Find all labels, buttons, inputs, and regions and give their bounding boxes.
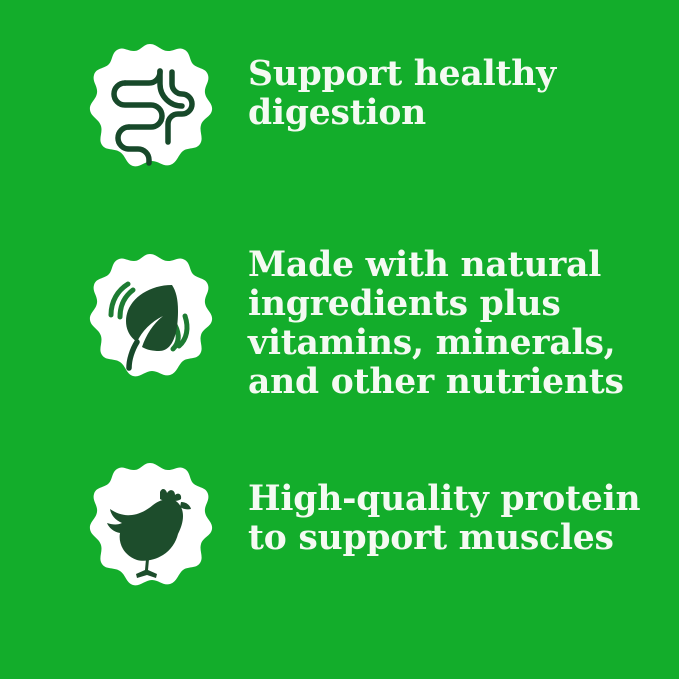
- badge-chicken: [84, 462, 216, 598]
- feature-row: High-quality protein to support muscles: [0, 462, 679, 598]
- badge-intestine: [84, 43, 216, 183]
- feature-highlights-panel: Support healthy digestion: [0, 0, 679, 679]
- feature-text: High-quality protein to support muscles: [248, 480, 668, 558]
- badge-leaf: [84, 253, 216, 391]
- feature-text: Made with natural ingredients plus vitam…: [248, 246, 668, 402]
- feature-row: Support healthy digestion: [0, 43, 679, 185]
- feature-text: Support healthy digestion: [248, 55, 668, 133]
- feature-row: Made with natural ingredients plus vitam…: [0, 253, 679, 391]
